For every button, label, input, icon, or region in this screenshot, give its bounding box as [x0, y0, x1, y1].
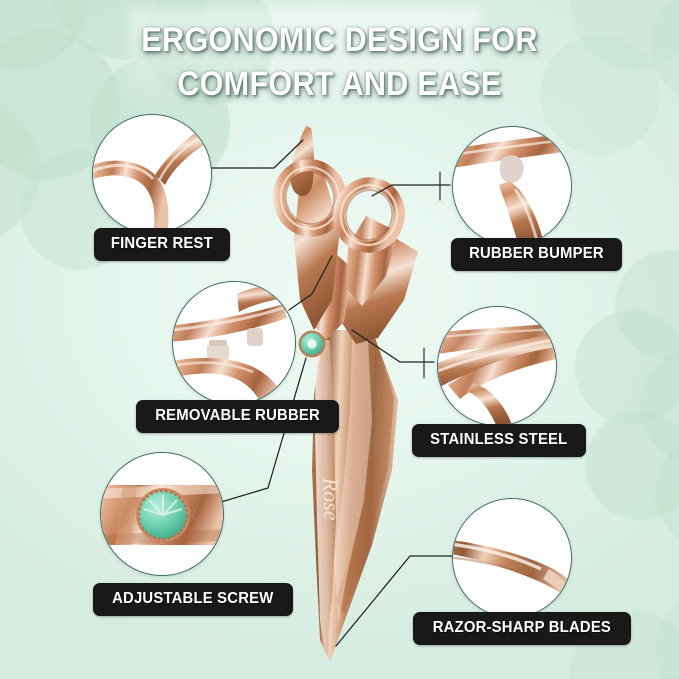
infographic-canvas: Rose ERGONOMIC DESIGN FOR COMFORT AND EA…: [0, 0, 679, 679]
finger-rest-detail: [93, 115, 211, 233]
callout-circle-stainless-steel: [437, 306, 557, 426]
pivot-screw: [299, 331, 326, 358]
callout-circle-removable-rubber: [172, 281, 296, 405]
stainless-steel-detail: [438, 307, 556, 425]
label-text-finger-rest: FINGER REST: [111, 236, 213, 252]
callout-circle-razor-sharp-blades: [452, 498, 572, 618]
rubber-bumper-detail: [453, 127, 571, 245]
razor-sharp-blades-detail: [453, 499, 571, 617]
label-finger-rest: FINGER REST: [94, 228, 230, 261]
label-text-adjustable-screw: ADJUSTABLE SCREW: [112, 591, 273, 607]
label-removable-rubber: REMOVABLE RUBBER: [136, 400, 339, 433]
label-text-razor-sharp-blades: RAZOR-SHARP BLADES: [433, 620, 611, 636]
label-text-rubber-bumper: RUBBER BUMPER: [469, 246, 604, 262]
callout-circle-finger-rest: [92, 114, 212, 234]
callout-circle-adjustable-screw: R: [100, 452, 224, 576]
label-text-stainless-steel: STAINLESS STEEL: [430, 432, 567, 448]
title-backdrop: [128, 8, 480, 112]
svg-text:Rose: Rose: [318, 476, 345, 521]
removable-rubber-detail: [173, 282, 295, 404]
label-text-removable-rubber: REMOVABLE RUBBER: [155, 408, 320, 424]
label-razor-sharp-blades: RAZOR-SHARP BLADES: [413, 612, 631, 645]
label-rubber-bumper: RUBBER BUMPER: [451, 238, 622, 271]
adjustable-screw-detail: R: [101, 453, 223, 575]
callout-circle-rubber-bumper: [452, 126, 572, 246]
label-stainless-steel: STAINLESS STEEL: [412, 424, 586, 457]
label-adjustable-screw: ADJUSTABLE SCREW: [93, 583, 293, 616]
svg-text:R: R: [186, 507, 196, 523]
